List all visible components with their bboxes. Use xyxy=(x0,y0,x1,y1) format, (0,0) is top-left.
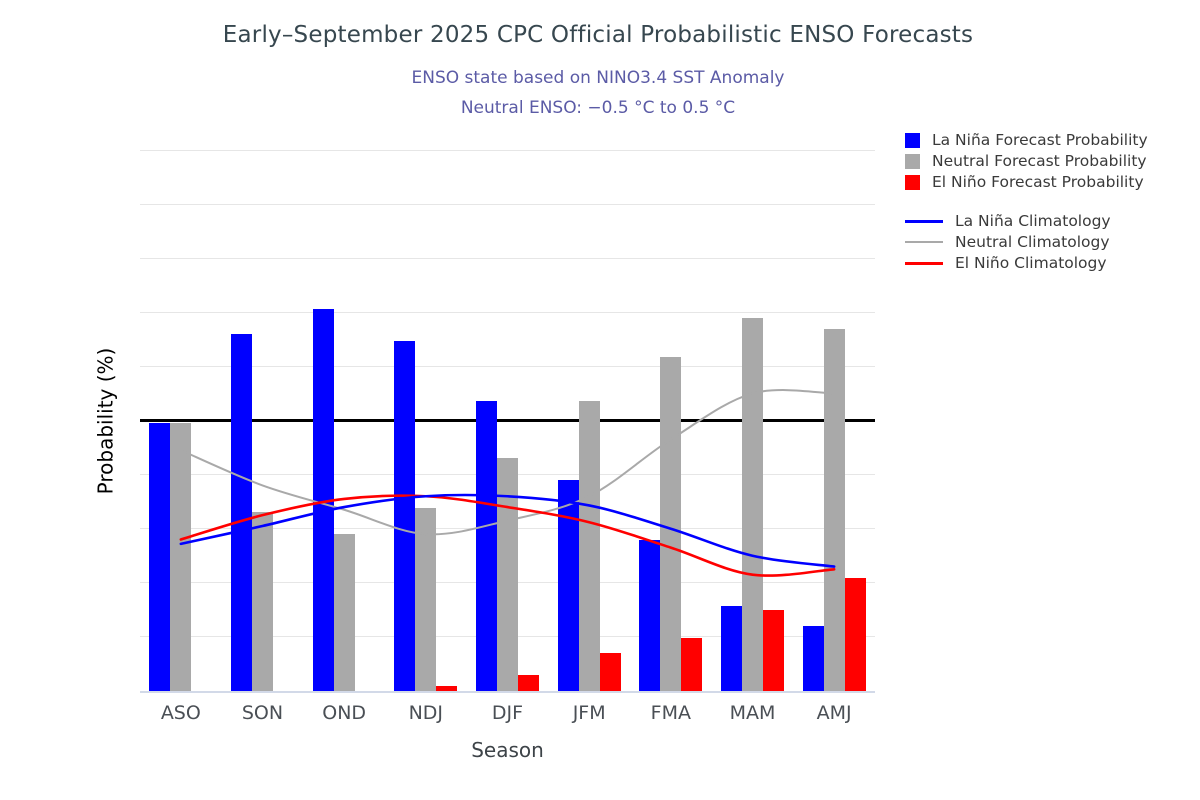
x-tick-label-FMA: FMA xyxy=(626,702,716,724)
legend-label: El Niño Climatology xyxy=(955,254,1107,272)
legend-item-line-gray[interactable]: Neutral Climatology xyxy=(905,232,1195,252)
climatology-line-neutral xyxy=(181,390,834,534)
x-axis-label: Season xyxy=(140,738,875,762)
legend-item-bar-red[interactable]: El Niño Forecast Probability xyxy=(905,172,1195,192)
chart-legend: La Niña Forecast ProbabilityNeutral Fore… xyxy=(905,130,1195,274)
climatology-lines xyxy=(140,150,875,691)
legend-item-bar-gray[interactable]: Neutral Forecast Probability xyxy=(905,151,1195,171)
enso-forecast-chart: Early–September 2025 CPC Official Probab… xyxy=(0,0,1200,800)
legend-swatch-icon xyxy=(905,154,920,169)
subtitle-line-1: ENSO state based on NINO3.4 SST Anomaly xyxy=(0,68,1196,88)
legend-label: La Niña Climatology xyxy=(955,212,1111,230)
x-tick-label-MAM: MAM xyxy=(708,702,798,724)
legend-label: La Niña Forecast Probability xyxy=(932,131,1148,149)
legend-item-line-blue[interactable]: La Niña Climatology xyxy=(905,211,1195,231)
legend-label: Neutral Climatology xyxy=(955,233,1110,251)
plot-area: 0102030405060708090100 ASOSONONDNDJDJFJF… xyxy=(140,150,875,691)
legend-label: Neutral Forecast Probability xyxy=(932,152,1147,170)
y-axis-label: Probability (%) xyxy=(93,347,117,494)
climatology-line-la-nina xyxy=(181,495,834,567)
legend-swatch-icon xyxy=(905,133,920,148)
subtitle-line-2: Neutral ENSO: −0.5 °C to 0.5 °C xyxy=(0,98,1196,118)
legend-item-line-red[interactable]: El Niño Climatology xyxy=(905,253,1195,273)
x-tick-label-OND: OND xyxy=(299,702,389,724)
x-tick-label-DJF: DJF xyxy=(463,702,553,724)
legend-line-icon xyxy=(905,262,943,265)
legend-item-bar-blue[interactable]: La Niña Forecast Probability xyxy=(905,130,1195,150)
x-tick-label-ASO: ASO xyxy=(136,702,226,724)
legend-line-icon xyxy=(905,220,943,223)
x-tick-label-JFM: JFM xyxy=(544,702,634,724)
gridline-0 xyxy=(140,691,875,693)
legend-swatch-icon xyxy=(905,175,920,190)
x-tick-label-AMJ: AMJ xyxy=(789,702,879,724)
climatology-line-el-nino xyxy=(181,496,834,576)
x-tick-label-SON: SON xyxy=(218,702,308,724)
x-tick-label-NDJ: NDJ xyxy=(381,702,471,724)
page-title: Early–September 2025 CPC Official Probab… xyxy=(0,22,1196,48)
legend-line-icon xyxy=(905,241,943,243)
legend-label: El Niño Forecast Probability xyxy=(932,173,1144,191)
